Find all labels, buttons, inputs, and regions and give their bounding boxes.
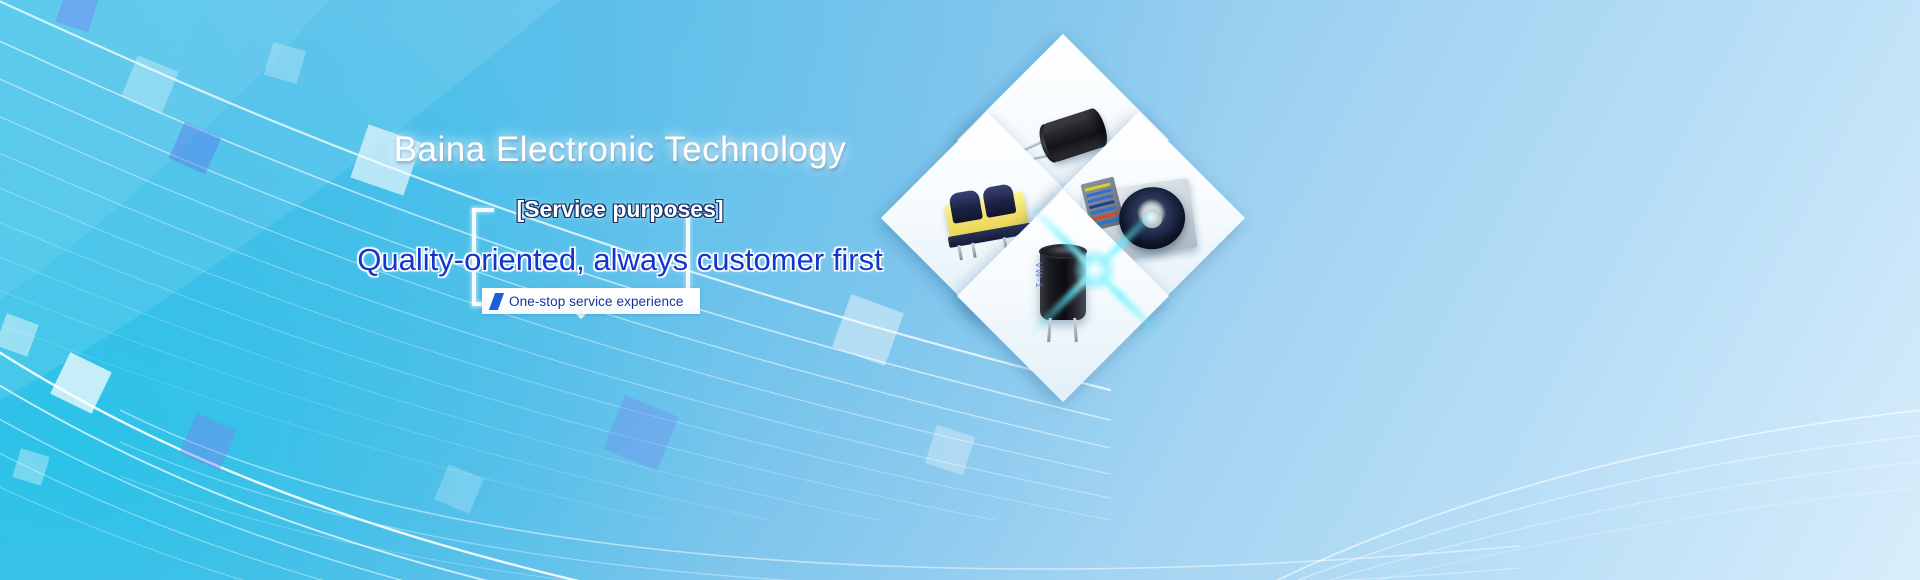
pin bbox=[1073, 318, 1078, 342]
decor-square bbox=[179, 413, 237, 471]
promo-banner: Baina Electronic Technology [Service pur… bbox=[0, 0, 1920, 580]
decor-square bbox=[925, 425, 975, 475]
drum-inductor-image: VW-1 bbox=[1026, 244, 1100, 348]
tagline-text: One-stop service experience bbox=[509, 294, 684, 309]
pin bbox=[971, 243, 977, 258]
tagline-bar: One-stop service experience bbox=[482, 288, 700, 314]
banner-text-block: Baina Electronic Technology [Service pur… bbox=[300, 130, 940, 340]
decor-square bbox=[50, 352, 112, 414]
decor-square bbox=[603, 395, 679, 471]
ferrite-core bbox=[948, 189, 983, 224]
service-purposes-label: [Service purposes] bbox=[300, 196, 940, 223]
accent-bar-icon bbox=[489, 293, 504, 310]
decor-square bbox=[121, 55, 178, 112]
pin bbox=[957, 245, 963, 260]
curve-sweep-bottom-center bbox=[120, 350, 1520, 580]
pin bbox=[1047, 318, 1052, 342]
curve-sweep-bottom-right bbox=[1200, 320, 1920, 580]
decor-square bbox=[169, 122, 222, 175]
product-diamond-cluster: VW-1 bbox=[900, 65, 1230, 425]
inductor-rim bbox=[1039, 244, 1087, 259]
page-title: Baina Electronic Technology bbox=[300, 130, 940, 170]
decor-square bbox=[264, 42, 306, 84]
slogan-text: Quality-oriented, always customer first bbox=[250, 242, 990, 278]
decor-square bbox=[0, 313, 39, 357]
component-marking: VW-1 bbox=[1034, 262, 1044, 288]
decor-square bbox=[434, 464, 484, 514]
decor-square bbox=[56, 0, 99, 32]
decor-square bbox=[12, 448, 49, 485]
ferrite-core bbox=[982, 183, 1017, 218]
